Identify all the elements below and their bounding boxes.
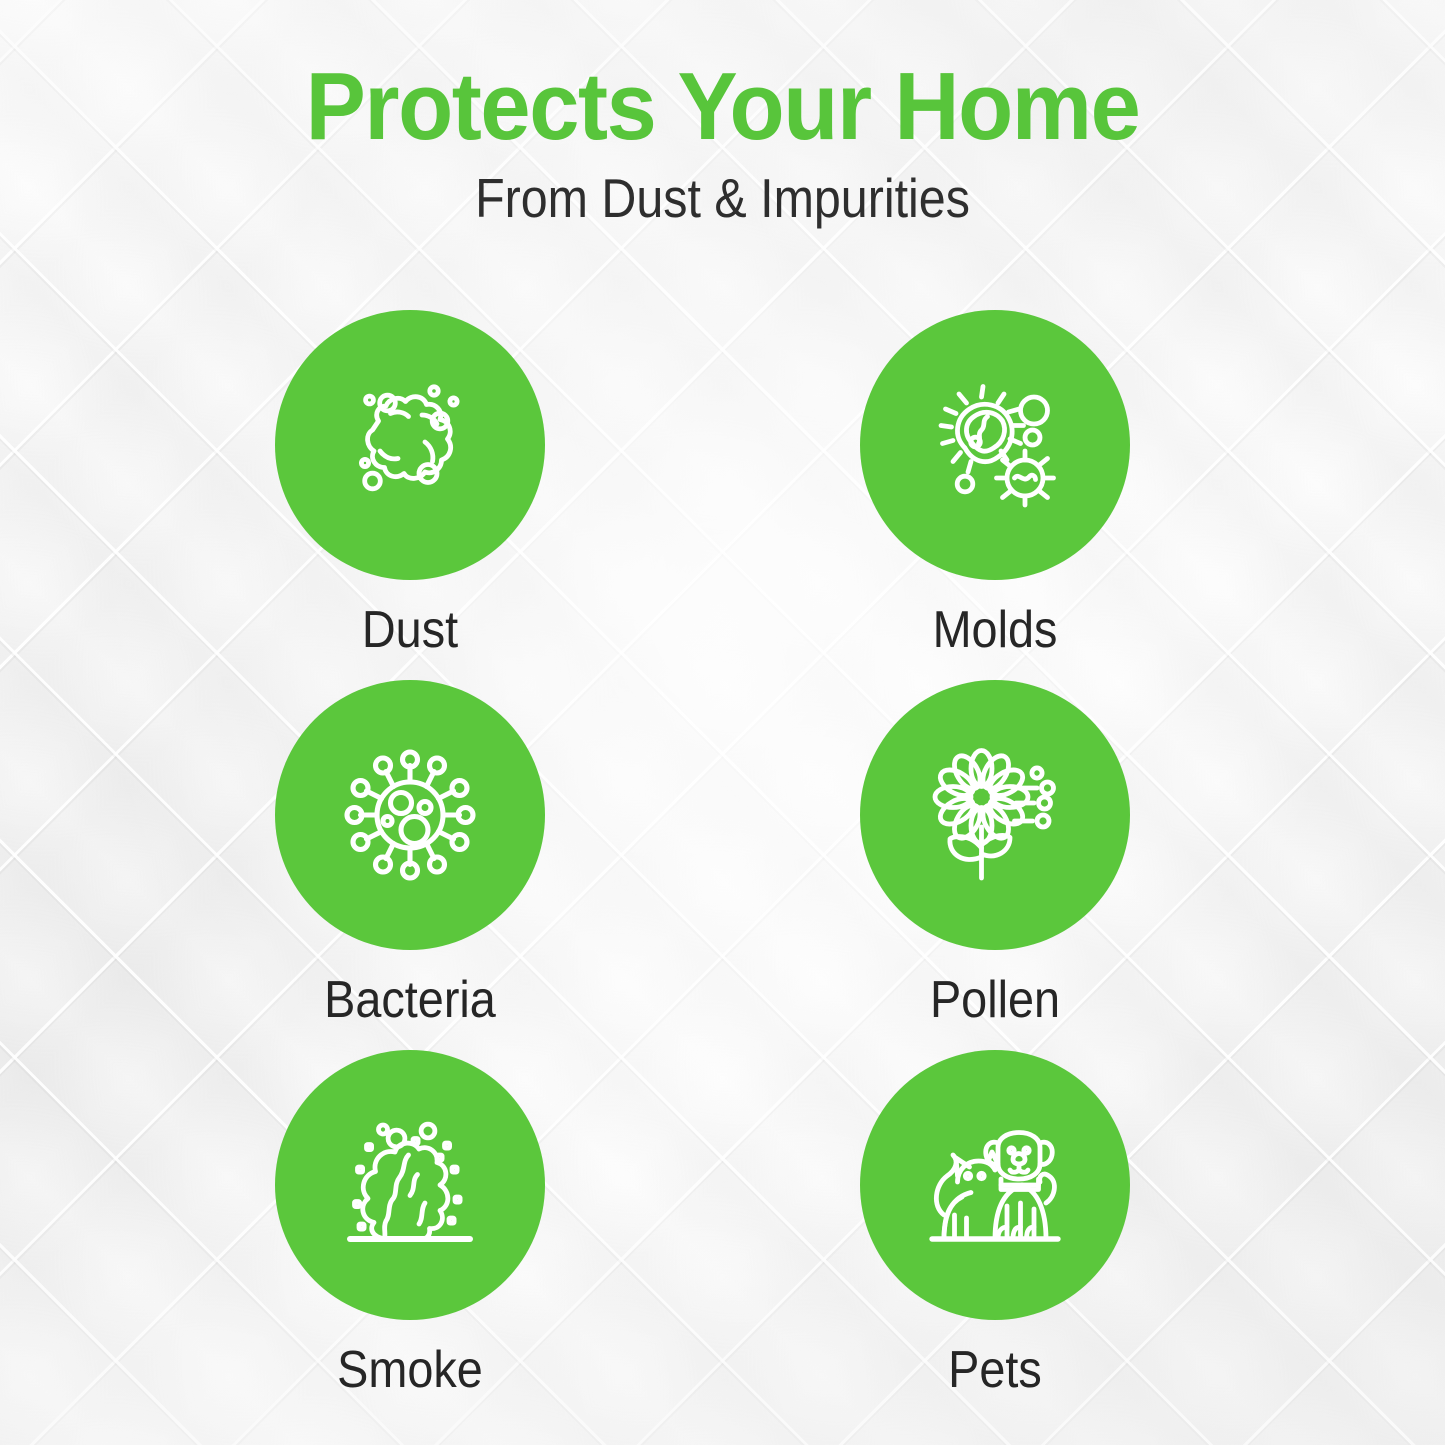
smoke-plume-icon	[335, 1110, 485, 1260]
header: Protects Your Home From Dust & Impuritie…	[0, 58, 1445, 228]
icon-badge-pollen	[860, 680, 1130, 950]
virus-spiked-cell-icon	[335, 740, 485, 890]
benefit-item-bacteria: Bacteria	[275, 680, 860, 1050]
icon-badge-bacteria	[275, 680, 545, 950]
icon-badge-pets	[860, 1050, 1130, 1320]
benefit-item-dust: Dust	[275, 310, 860, 680]
benefit-label-dust: Dust	[289, 600, 532, 660]
benefit-item-pets: Pets	[860, 1050, 1445, 1420]
benefit-label-pollen: Pollen	[874, 970, 1117, 1030]
benefits-row: Dust	[0, 310, 1445, 680]
benefit-label-smoke: Smoke	[289, 1340, 532, 1400]
benefit-item-smoke: Smoke	[275, 1050, 860, 1420]
benefits-row: Bacteria	[0, 680, 1445, 1050]
benefit-item-pollen: Pollen	[860, 680, 1445, 1050]
infographic-poster: Protects Your Home From Dust & Impuritie…	[0, 0, 1445, 1445]
benefit-item-molds: Molds	[860, 310, 1445, 680]
mold-bacterium-spores-icon	[920, 370, 1070, 520]
page-subtitle: From Dust & Impurities	[87, 168, 1359, 229]
icon-badge-molds	[860, 310, 1130, 580]
dog-and-cat-icon	[920, 1110, 1070, 1260]
page-title: Protects Your Home	[43, 58, 1401, 156]
benefits-row: Smoke	[0, 1050, 1445, 1420]
icon-badge-smoke	[275, 1050, 545, 1320]
benefit-label-pets: Pets	[874, 1340, 1117, 1400]
dust-cloud-particles-icon	[335, 370, 485, 520]
benefit-label-molds: Molds	[874, 600, 1117, 660]
icon-badge-dust	[275, 310, 545, 580]
benefits-grid: Dust	[0, 310, 1445, 1420]
flower-pollen-drift-icon	[920, 740, 1070, 890]
benefit-label-bacteria: Bacteria	[289, 970, 532, 1030]
